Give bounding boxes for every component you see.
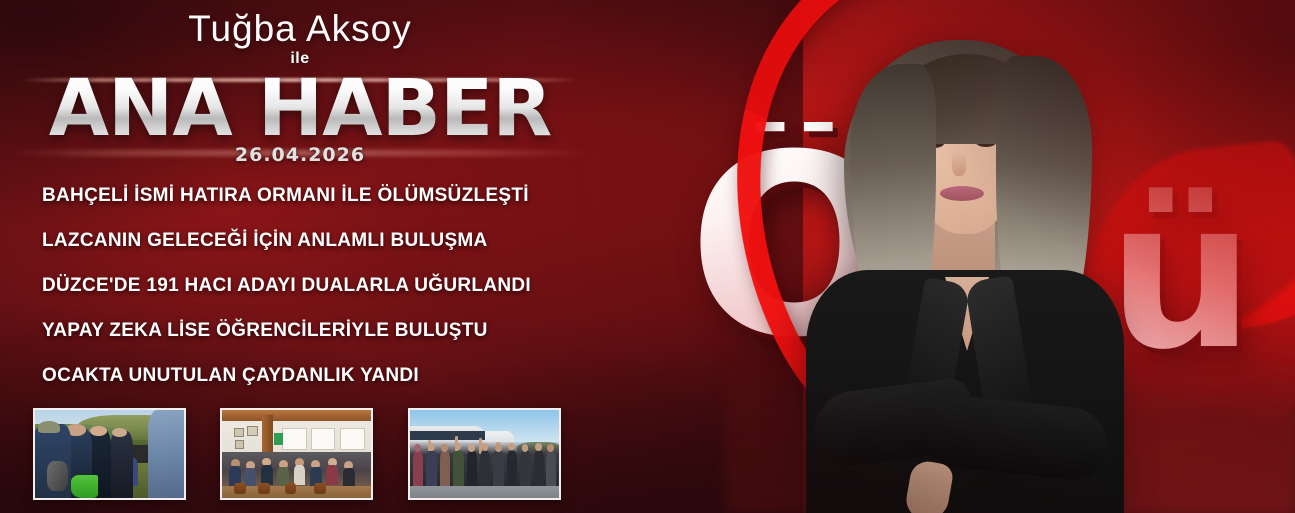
headline-item: OCAKTA UNUTULAN ÇAYDANLIK YANDI [42,364,602,409]
thumbnail-tree-planting [33,408,186,500]
broadcast-date: 26.04.2026 [0,144,600,166]
thumbnail-image-2 [222,410,371,498]
thumbnail-image-3 [410,410,559,498]
headline-item: DÜZCE'DE 191 HACI ADAYI DUALARLA UĞURLAN… [42,274,602,319]
headline-item: BAHÇELİ İSMİ HATIRA ORMANI İLE ÖLÜMSÜZLE… [42,184,602,229]
thumbnail-community-meeting [220,408,373,500]
thumbnail-pilgrim-farewell [408,408,561,500]
show-title: ANA HABER [0,70,600,148]
broadcast-news-graphic: Ö r ü Tuğba Aksoy ile ANA HABER 26.04.20… [0,0,1295,513]
headline-item: LAZCANIN GELECEĞİ İÇİN ANLAMLI BULUŞMA [42,229,602,274]
headline-list: BAHÇELİ İSMİ HATIRA ORMANI İLE ÖLÜMSÜZLE… [42,184,602,409]
thumbnail-image-1 [35,410,184,498]
headline-item: YAPAY ZEKA LİSE ÖĞRENCİLERİYLE BULUŞTU [42,319,602,364]
host-name: Tuğba Aksoy [0,8,600,50]
thumbnail-strip [33,408,573,503]
